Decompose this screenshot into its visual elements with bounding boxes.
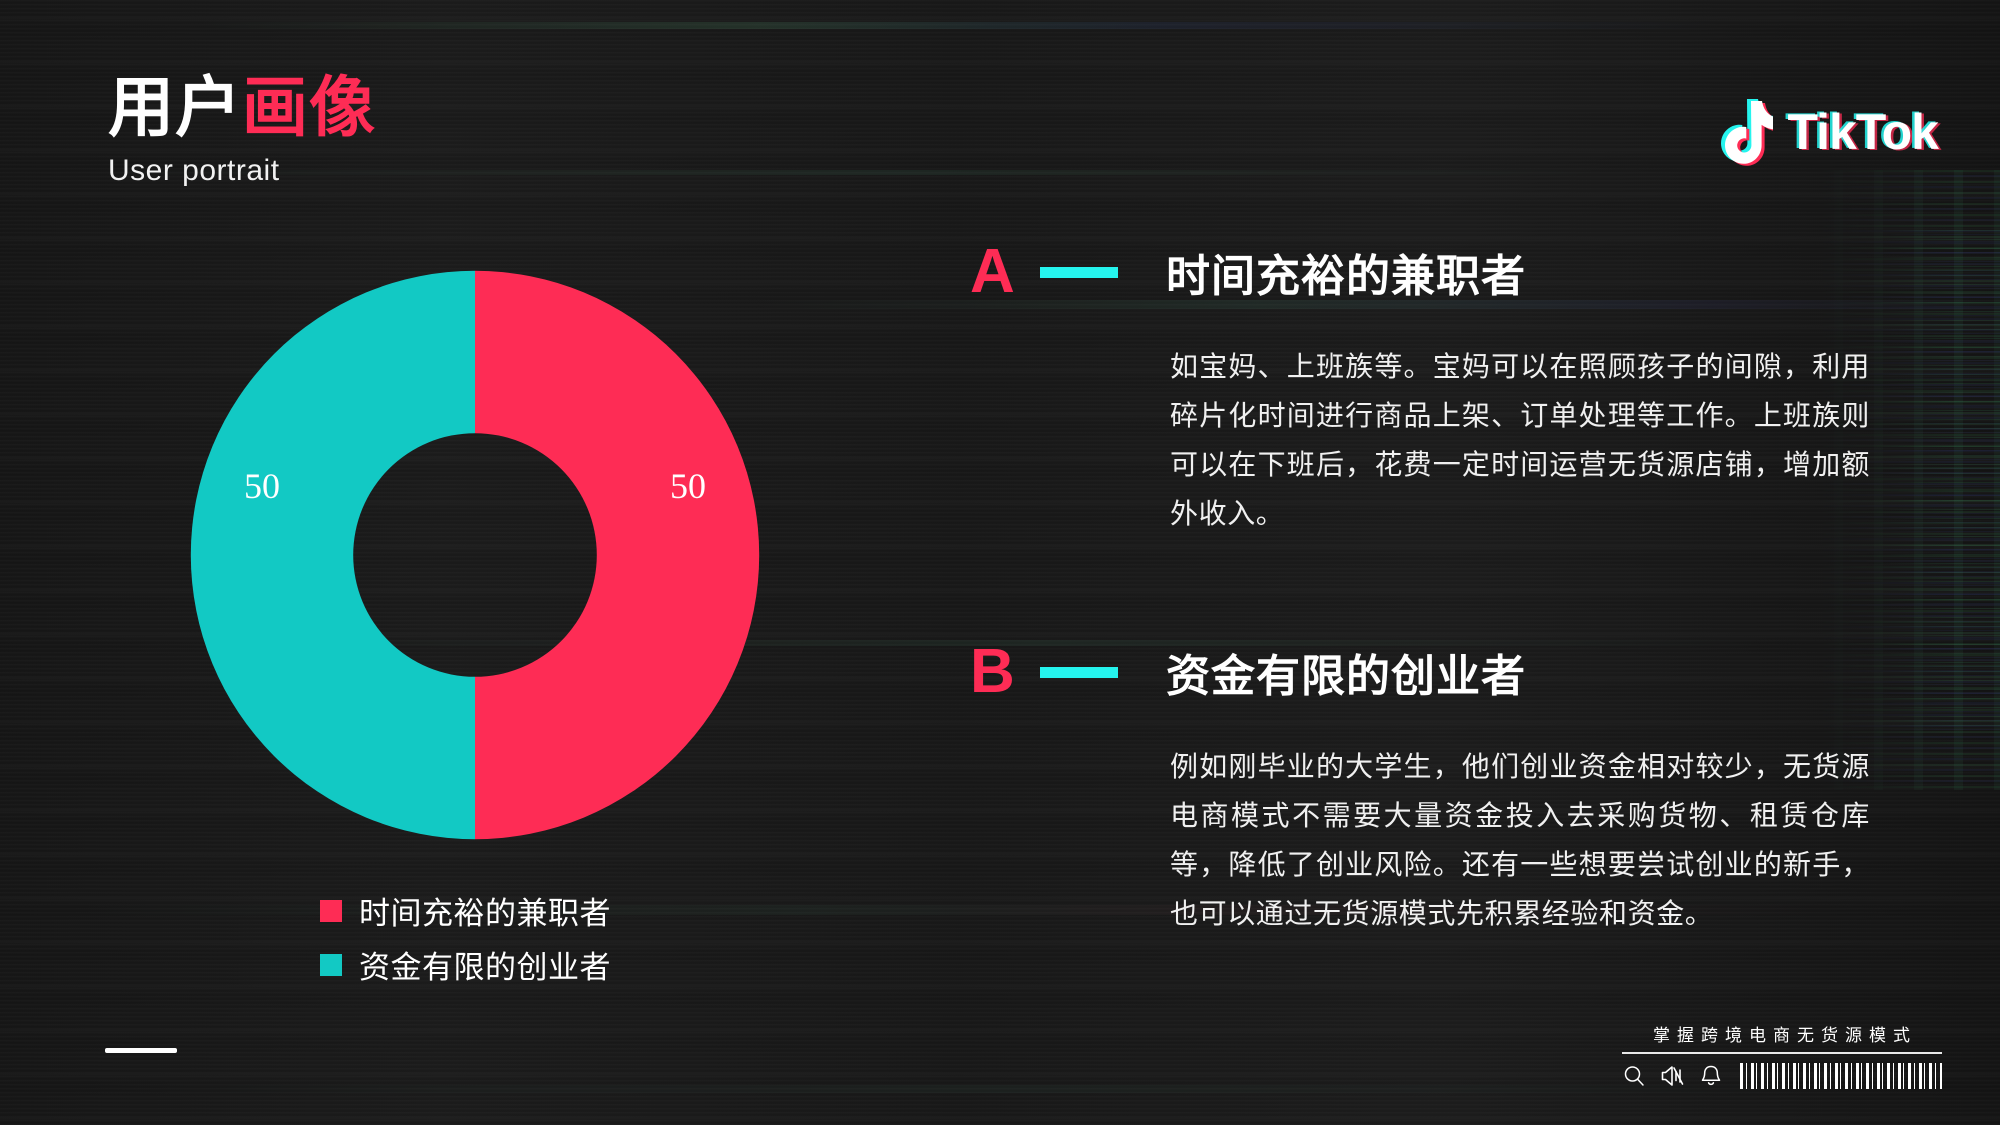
section-b-body: 例如刚毕业的大学生，他们创业资金相对较少，无货源电商模式不需要大量资金投入去采购… bbox=[1170, 742, 1870, 938]
slide-root: 用户画像 User portrait TikTok 50 50 时间充裕的兼职者… bbox=[0, 0, 2000, 1125]
section-a-dash-icon bbox=[1040, 267, 1118, 278]
legend-swatch-icon bbox=[320, 900, 342, 922]
section-a-header: A 时间充裕的兼职者 bbox=[970, 240, 1870, 304]
tiktok-note-icon bbox=[1711, 98, 1773, 166]
legend-swatch-icon bbox=[320, 954, 342, 976]
footer-tagline: 掌握跨境电商无货源模式 bbox=[1622, 1021, 1942, 1046]
tiktok-logo: TikTok bbox=[1711, 98, 1938, 166]
legend-item-label: 资金有限的创业者 bbox=[359, 942, 611, 987]
page-title-block: 用户画像 User portrait bbox=[108, 73, 376, 188]
content-section-a: A 时间充裕的兼职者 如宝妈、上班族等。宝妈可以在照顾孩子的间隙，利用碎片化时间… bbox=[970, 240, 1870, 538]
section-b-title: 资金有限的创业者 bbox=[1166, 640, 1526, 704]
page-title-part-two: 画像 bbox=[242, 70, 376, 144]
legend-item-label: 时间充裕的兼职者 bbox=[359, 888, 611, 933]
donut-value-label-right: 50 bbox=[633, 465, 743, 507]
section-a-title: 时间充裕的兼职者 bbox=[1166, 240, 1526, 304]
page-subtitle: User portrait bbox=[108, 154, 376, 188]
donut-slice-b bbox=[191, 271, 475, 839]
bell-icon[interactable] bbox=[1700, 1064, 1722, 1088]
page-title-part-one: 用户 bbox=[108, 70, 242, 144]
donut-chart-svg bbox=[185, 265, 765, 845]
page-title: 用户画像 bbox=[108, 73, 376, 142]
section-a-letter: A bbox=[970, 241, 1026, 303]
footer-block: 掌握跨境电商无货源模式 bbox=[1622, 1021, 1942, 1089]
section-b-dash-icon bbox=[1040, 667, 1118, 678]
content-section-b: B 资金有限的创业者 例如刚毕业的大学生，他们创业资金相对较少，无货源电商模式不… bbox=[970, 640, 1870, 938]
barcode-icon bbox=[1740, 1063, 1942, 1089]
decorative-rule-bottom-left bbox=[105, 1048, 177, 1053]
tiktok-wordmark: TikTok bbox=[1787, 107, 1938, 157]
search-icon[interactable] bbox=[1622, 1064, 1646, 1088]
section-b-letter: B bbox=[970, 641, 1026, 703]
legend-item[interactable]: 资金有限的创业者 bbox=[320, 942, 611, 987]
speaker-mute-icon[interactable] bbox=[1660, 1064, 1686, 1088]
section-b-header: B 资金有限的创业者 bbox=[970, 640, 1870, 704]
donut-value-label-left: 50 bbox=[207, 465, 317, 507]
section-a-body: 如宝妈、上班族等。宝妈可以在照顾孩子的间隙，利用碎片化时间进行商品上架、订单处理… bbox=[1170, 342, 1870, 538]
legend-item[interactable]: 时间充裕的兼职者 bbox=[320, 888, 611, 933]
donut-chart: 50 50 bbox=[185, 265, 765, 845]
footer-divider bbox=[1622, 1052, 1942, 1054]
donut-slice-a bbox=[475, 271, 759, 839]
chart-legend: 时间充裕的兼职者 资金有限的创业者 bbox=[320, 888, 611, 996]
footer-icon-row bbox=[1622, 1063, 1942, 1089]
